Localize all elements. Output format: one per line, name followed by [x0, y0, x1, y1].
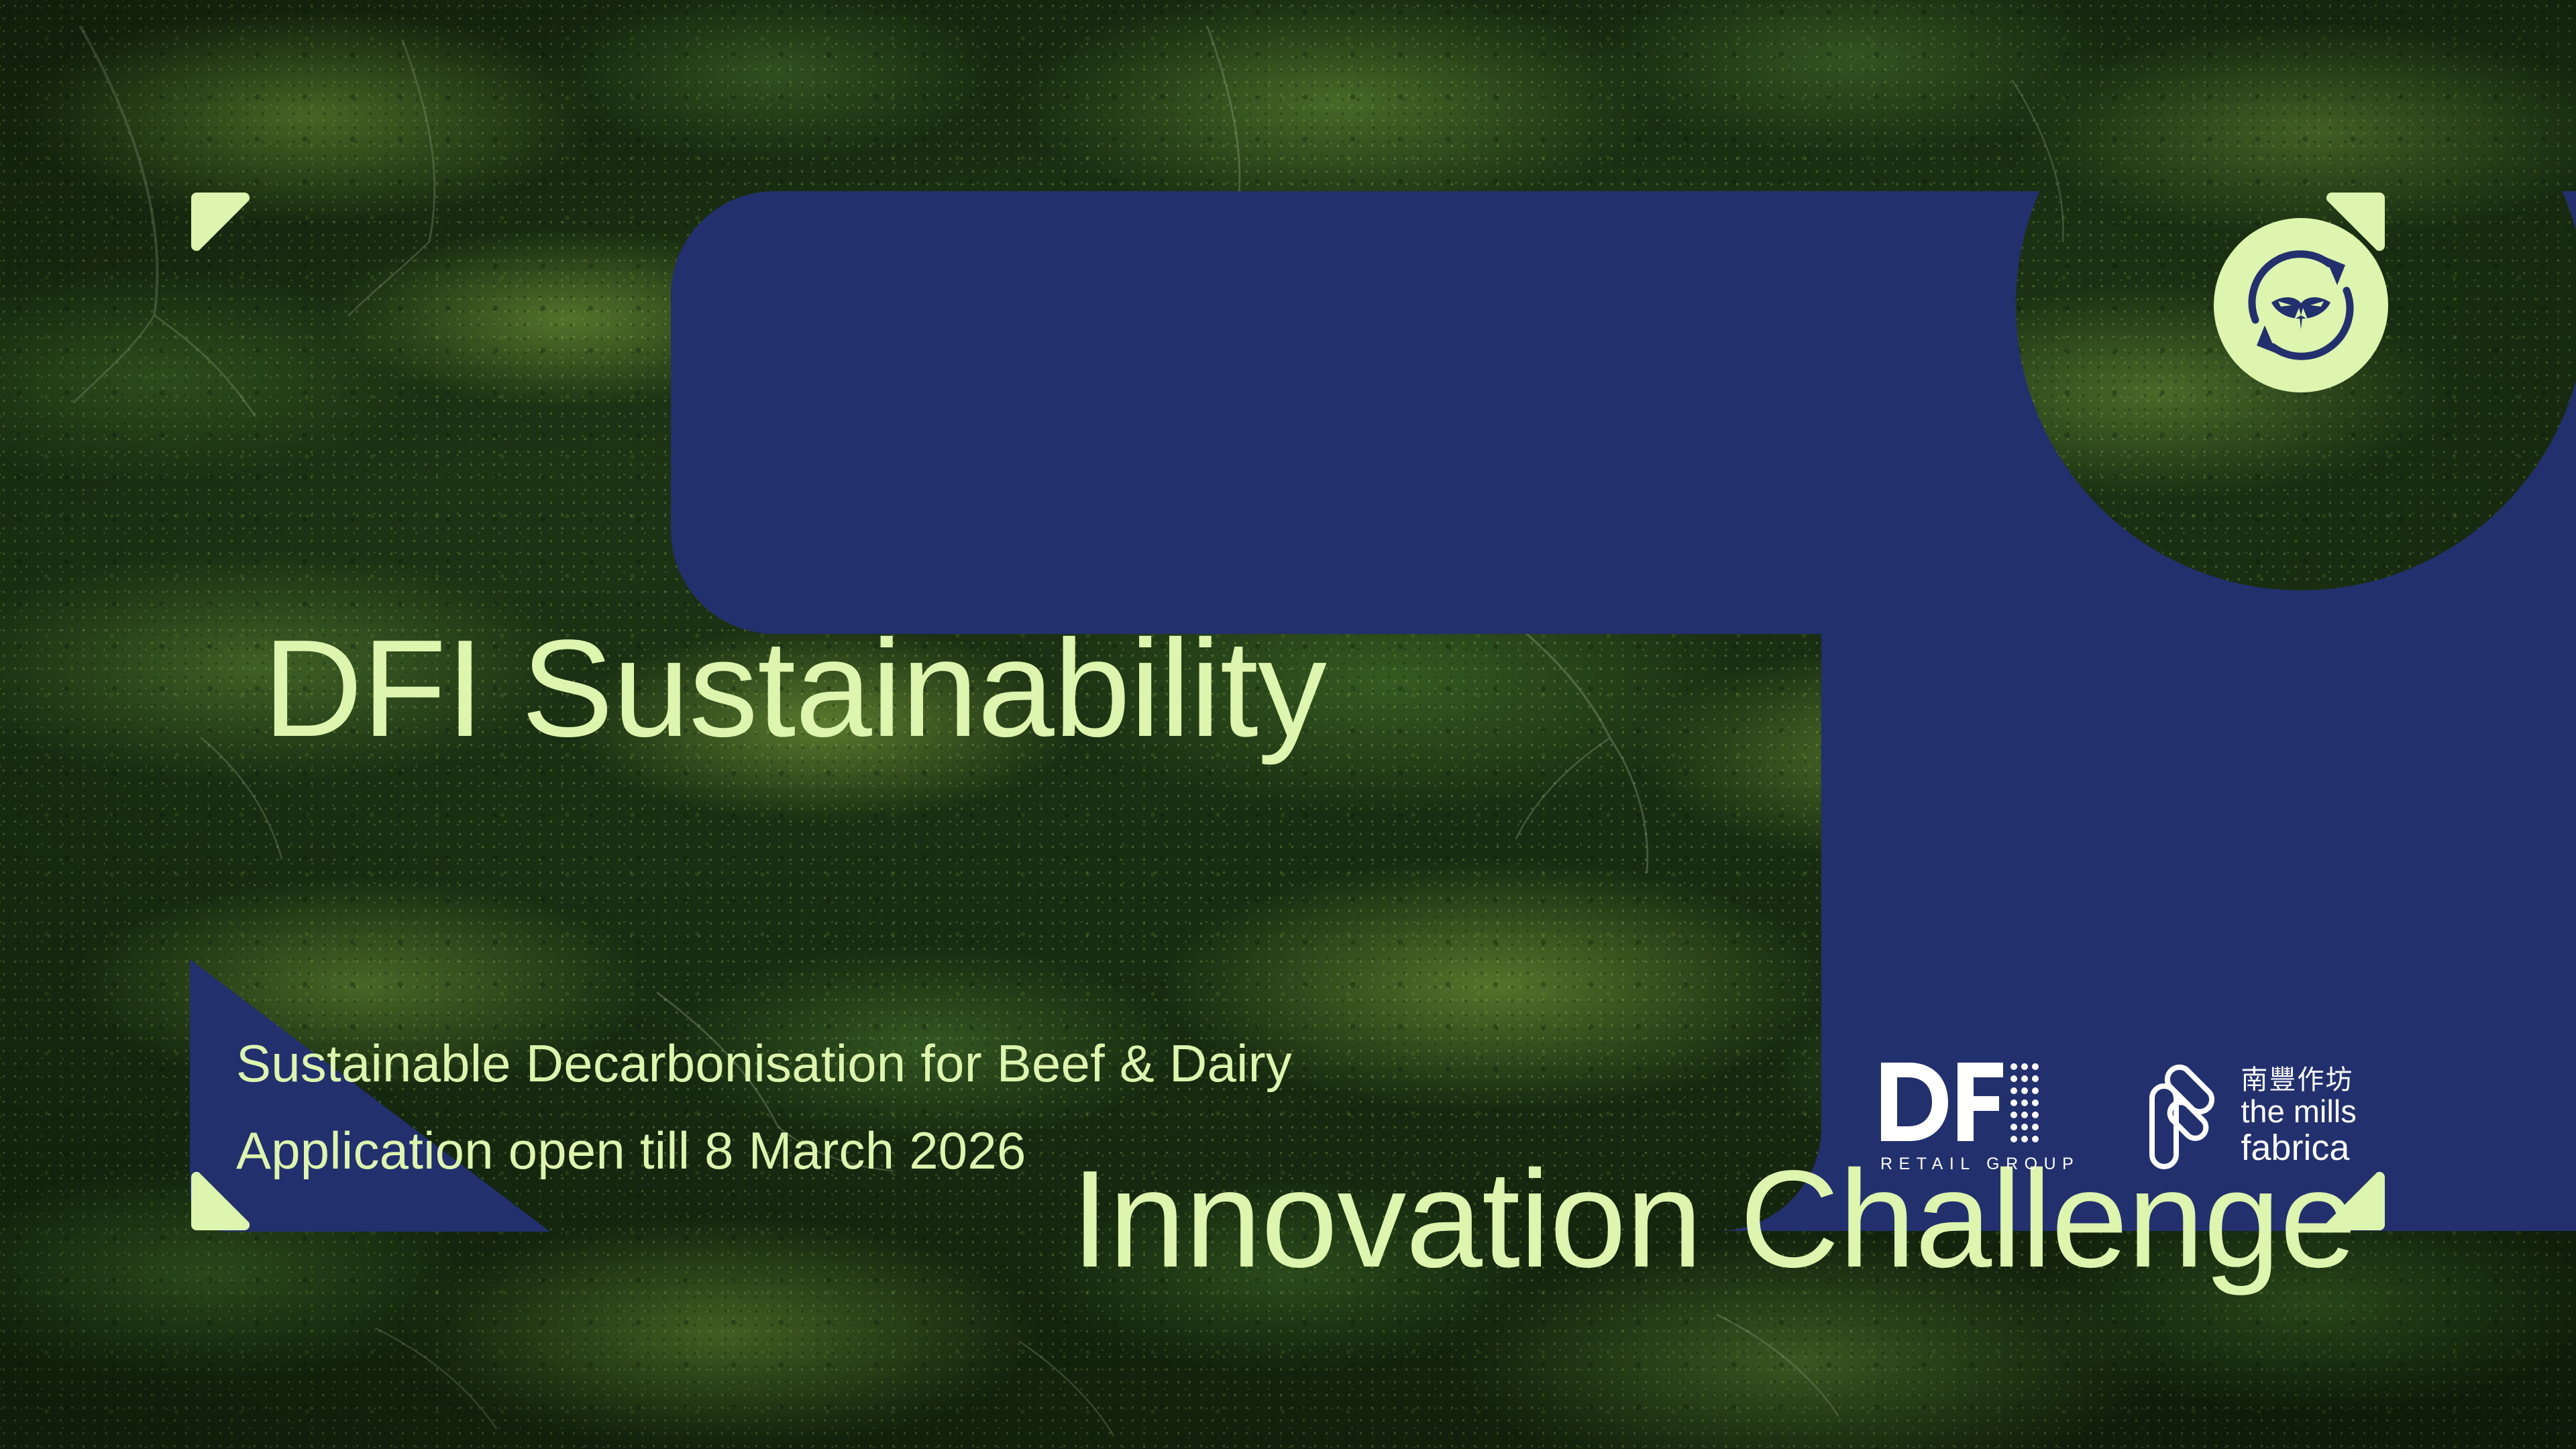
poster-headline: DFI Sustainability Innovation Challenge [263, 247, 2356, 1449]
mills-name-line-1: the mills [2241, 1095, 2356, 1128]
mills-fabrica-logo: 南豐作坊 the mills fabrica [2137, 1063, 2356, 1171]
challenge-theme-text: Sustainable Decarbonisation for Beef & D… [236, 1033, 1292, 1094]
partner-logo-row: RETAIL GROUP 南豐作坊 the mills fabrica [1878, 1060, 2357, 1174]
mills-name-line-2: fabrica [2241, 1129, 2349, 1167]
corner-mark-top-left-icon [190, 191, 252, 253]
dfi-retail-group-logo: RETAIL GROUP [1878, 1060, 2080, 1174]
mills-chinese-name: 南豐作坊 [2241, 1067, 2353, 1093]
dfi-tagline: RETAIL GROUP [1880, 1155, 2080, 1174]
dfi-wordmark-icon [1878, 1060, 2046, 1144]
headline-line-1: DFI Sustainability [263, 600, 2356, 777]
application-deadline-text: Application open till 8 March 2026 [236, 1120, 1026, 1181]
poster-canvas: DFI Sustainability Innovation Challenge … [0, 0, 2576, 1449]
mills-fabrica-mark-icon [2137, 1063, 2226, 1171]
